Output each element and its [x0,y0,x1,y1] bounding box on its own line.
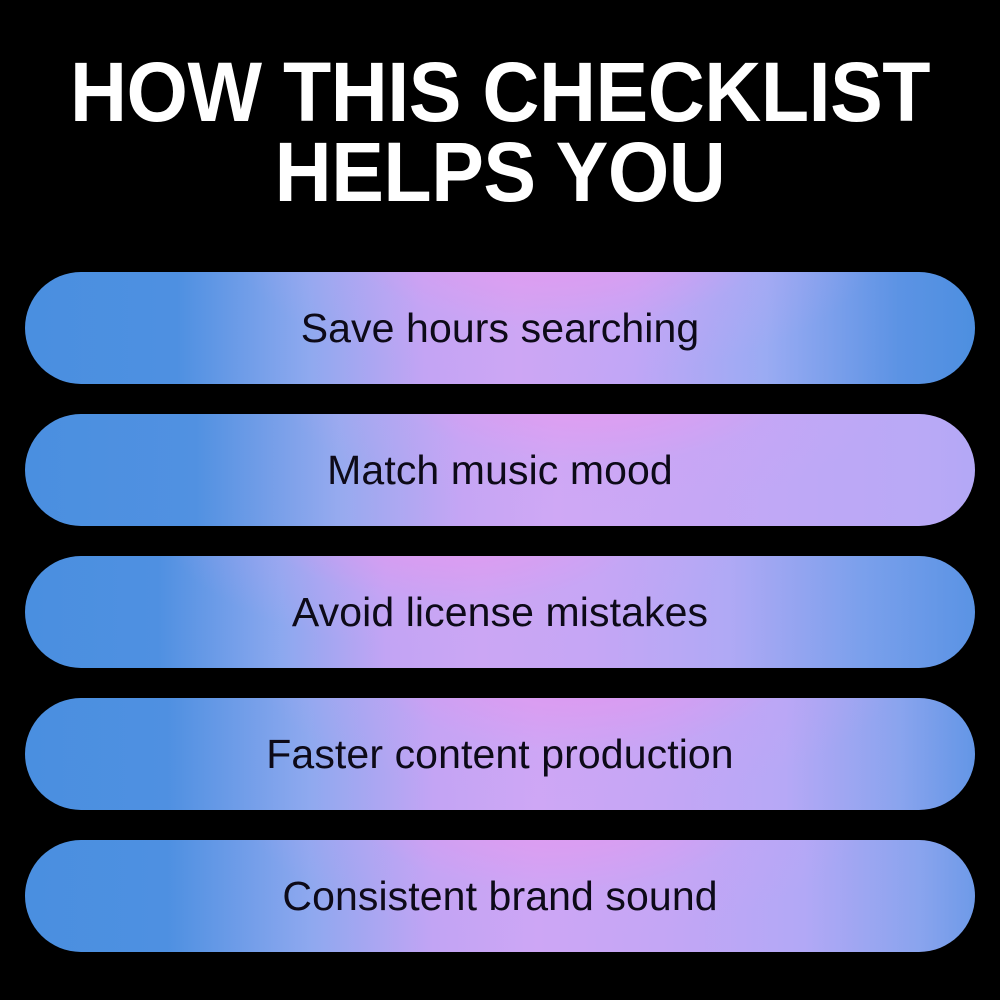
checklist-item-2-label: Match music mood [327,450,673,491]
poster-canvas: HOW THIS CHECKLIST HELPS YOU Save hours … [0,0,1000,1000]
checklist-item-3[interactable]: Avoid license mistakes [25,556,975,668]
checklist-item-5-label: Consistent brand sound [282,876,717,917]
title-line-1: HOW THIS CHECKLIST [30,52,970,132]
checklist-item-5[interactable]: Consistent brand sound [25,840,975,952]
page-title: HOW THIS CHECKLIST HELPS YOU [0,52,1000,212]
checklist-item-4[interactable]: Faster content production [25,698,975,810]
checklist-benefits-list: Save hours searching Match music mood Av… [25,272,975,952]
checklist-item-4-label: Faster content production [266,734,733,775]
checklist-item-1[interactable]: Save hours searching [25,272,975,384]
checklist-item-1-label: Save hours searching [301,308,700,349]
checklist-item-2[interactable]: Match music mood [25,414,975,526]
title-line-2: HELPS YOU [30,132,970,212]
checklist-item-3-label: Avoid license mistakes [292,592,708,633]
